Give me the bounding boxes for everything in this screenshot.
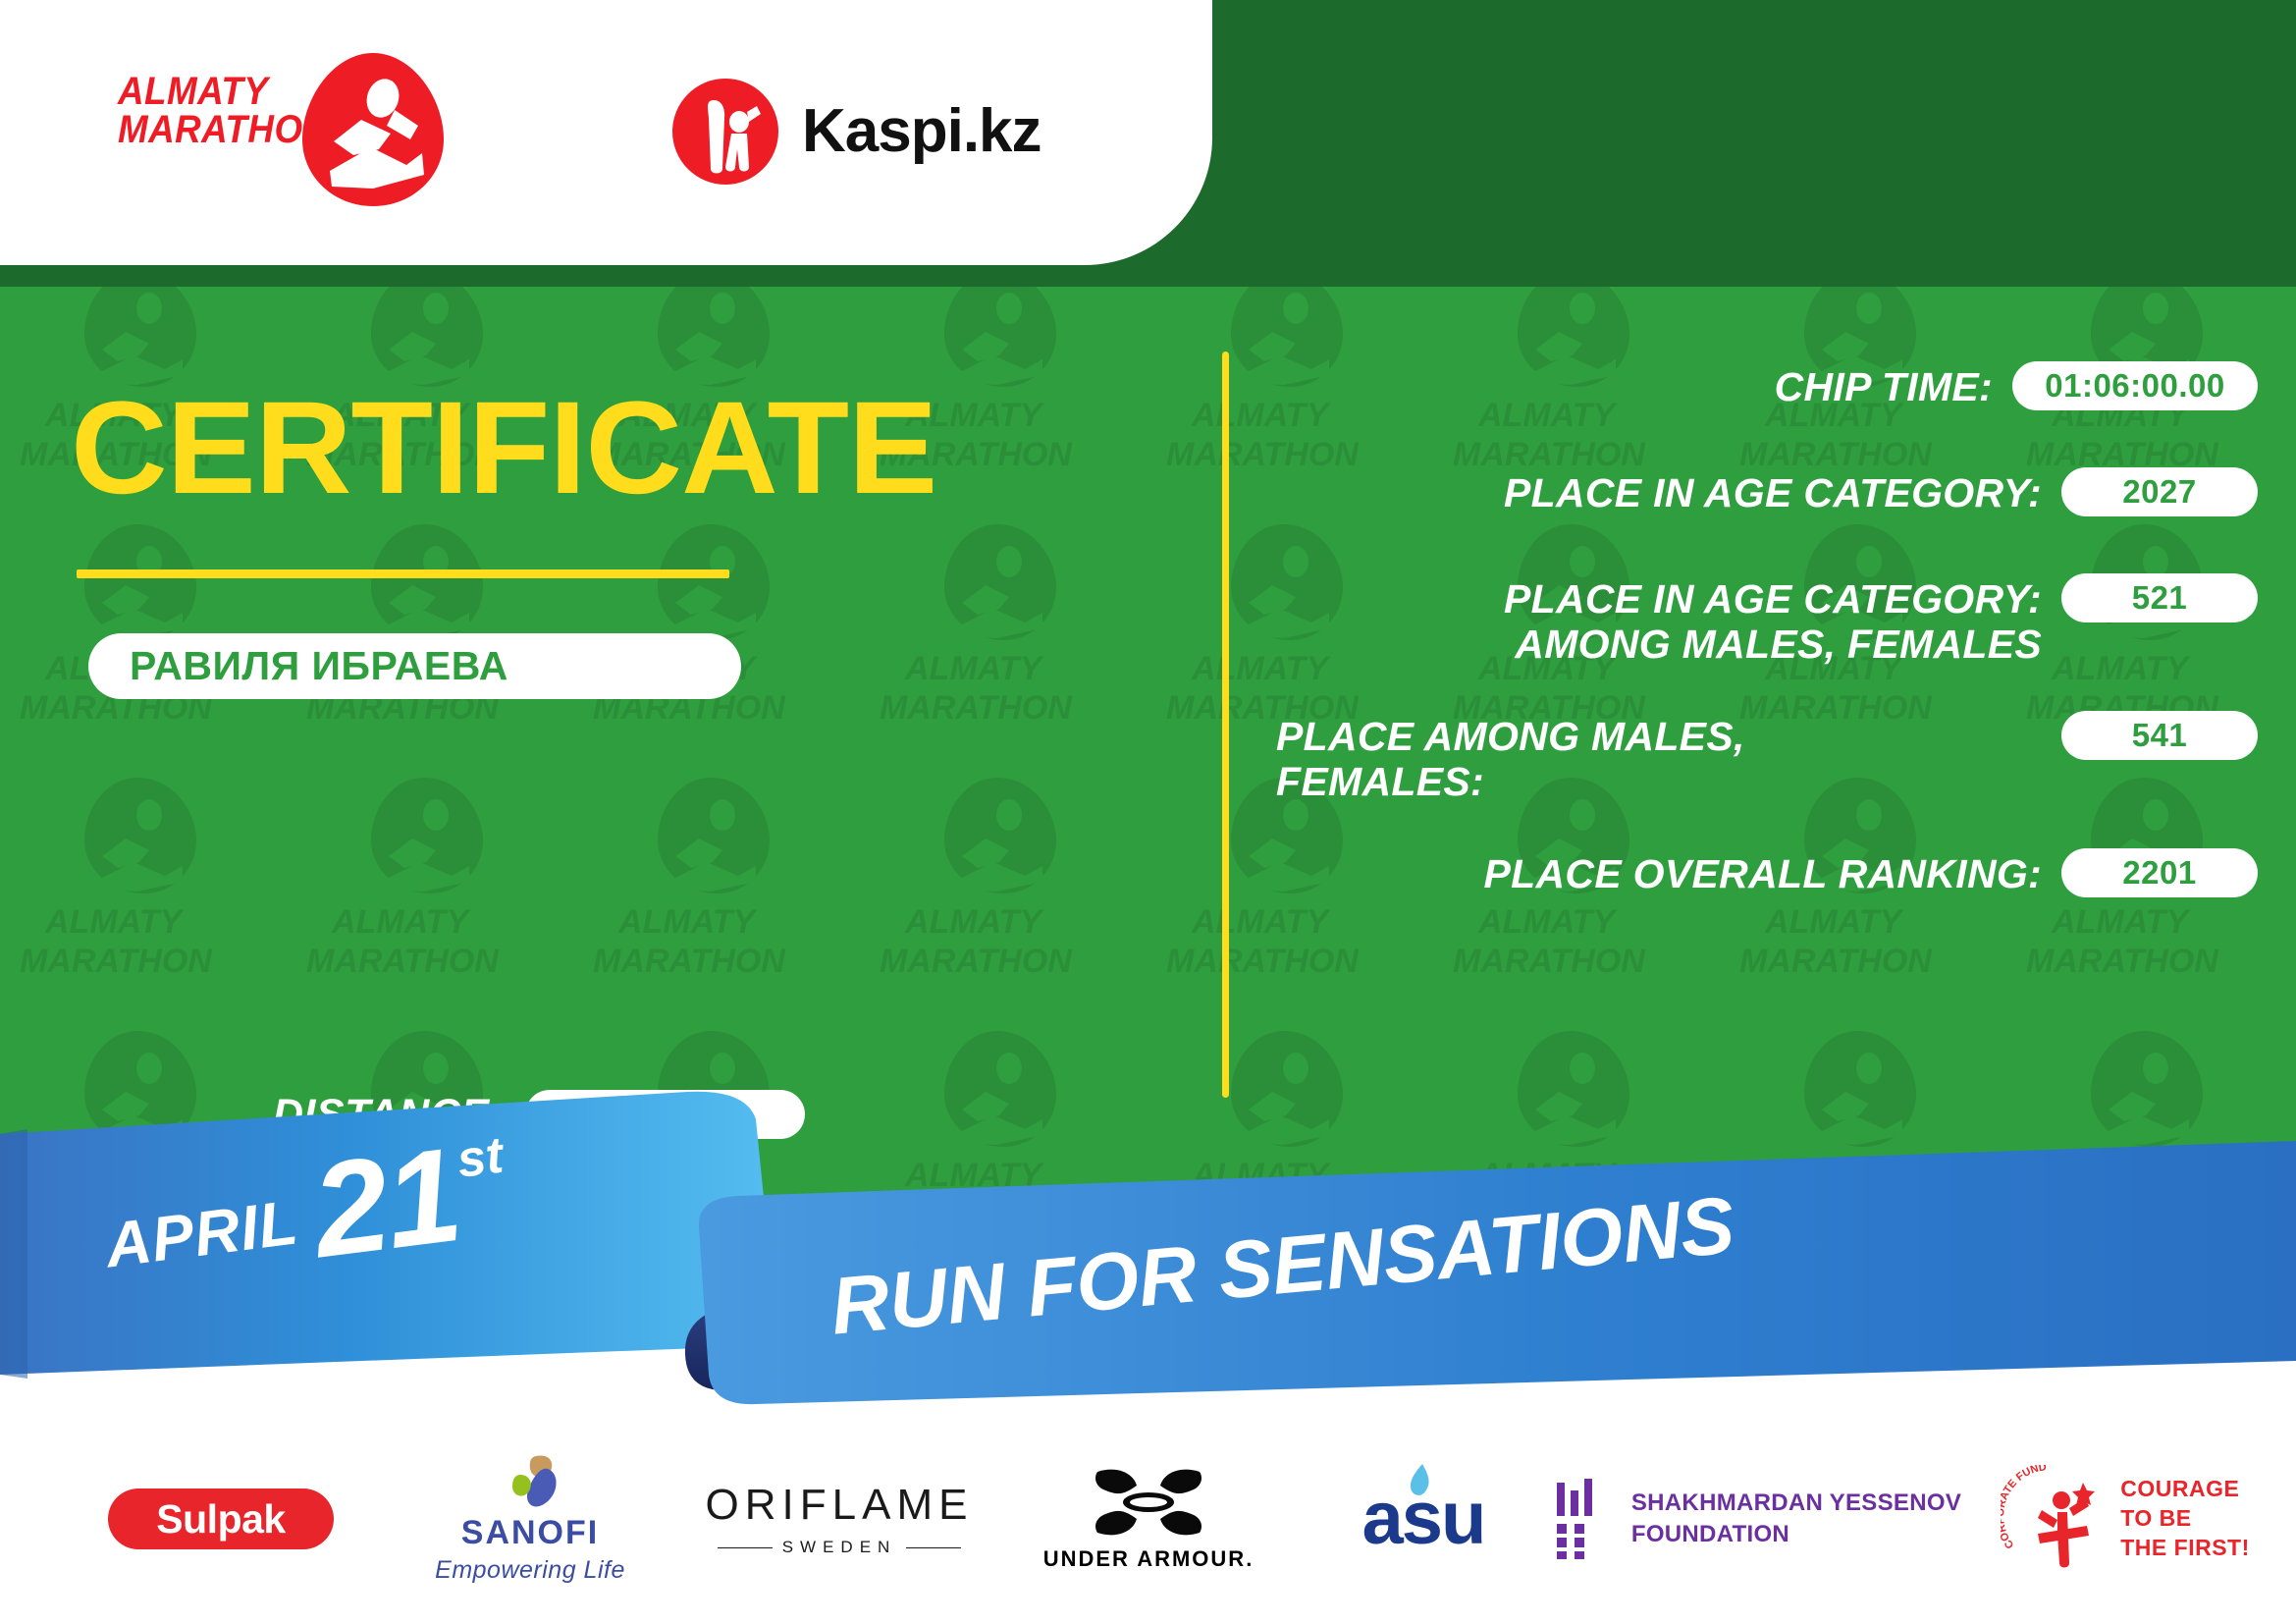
sulpak-logo-text: Sulpak xyxy=(156,1496,285,1543)
kaspi-logo: Kaspi.kz xyxy=(670,77,1041,187)
stat-row: PLACE OVERALL RANKING: 2201 xyxy=(1276,848,2258,911)
sanofi-logo xyxy=(491,1453,569,1514)
oriflame-rule-left xyxy=(718,1547,773,1548)
place-age-category-label: PLACE IN AGE CATEGORY: xyxy=(1276,467,2042,516)
sponsors-bar: Sulpak SANOFI Empowering Life ORIFLAME S… xyxy=(0,1414,2296,1624)
stat-row: PLACE IN AGE CATEGORY: 2027 xyxy=(1276,467,2258,530)
yessenov-foundation-text: SHAKHMARDAN YESSENOV FOUNDATION xyxy=(1631,1488,1961,1551)
place-age-category-gender-label: PLACE IN AGE CATEGORY: AMONG MALES, FEMA… xyxy=(1276,573,2042,668)
oriflame-logo-text: ORIFLAME xyxy=(706,1481,974,1530)
asu-droplet-icon xyxy=(1408,1462,1433,1501)
finish-time-value: 01:07:46.00 xyxy=(615,1206,795,1243)
finish-time-value-pill: 01:07:46.00 xyxy=(565,1200,845,1249)
oriflame-sub-text: SWEDEN xyxy=(782,1538,897,1557)
distance-value: 10 KM xyxy=(576,1096,674,1133)
asu-logo-text: asu xyxy=(1362,1482,1485,1556)
courage-text: COURAGE TO BE THE FIRST! xyxy=(2120,1475,2250,1563)
sanofi-logo-text: SANOFI xyxy=(461,1514,599,1552)
yessenov-line1: SHAKHMARDAN YESSENOV xyxy=(1631,1488,1961,1519)
sulpak-logo: Sulpak xyxy=(108,1489,334,1549)
courage-line1: COURAGE xyxy=(2120,1475,2250,1504)
yessenov-foundation-logo xyxy=(1553,1479,1612,1559)
sponsor-yessenov-foundation: SHAKHMARDAN YESSENOV FOUNDATION xyxy=(1551,1445,1963,1593)
stat-row: PLACE AMONG MALES, FEMALES: 541 xyxy=(1276,711,2258,805)
place-among-gender-value: 541 xyxy=(2132,717,2188,754)
place-among-gender-label-line2: FEMALES: xyxy=(1276,760,2042,805)
place-among-gender-value-pill: 541 xyxy=(2061,711,2258,760)
sponsor-oriflame: ORIFLAME SWEDEN xyxy=(677,1445,1001,1593)
courage-to-be-first-logo: CORPORATE FUND xyxy=(2001,1465,2109,1573)
under-armour-logo xyxy=(1090,1466,1207,1539)
kaspi-logo-text: Kaspi.kz xyxy=(802,101,1041,162)
under-armour-logo-text: UNDER ARMOUR. xyxy=(1043,1546,1255,1572)
almaty-logo-line1: ALMATY xyxy=(118,73,316,111)
sanofi-tagline: Empowering Life xyxy=(435,1556,625,1585)
sponsor-sulpak: Sulpak xyxy=(59,1445,383,1593)
sponsor-under-armour: UNDER ARMOUR. xyxy=(1001,1445,1296,1593)
chip-time-label: CHIP TIME: xyxy=(1276,361,1993,410)
distance-value-pill: 10 KM xyxy=(525,1090,805,1139)
oriflame-rule-right xyxy=(906,1547,961,1548)
courage-line3: THE FIRST! xyxy=(2120,1534,2250,1563)
participant-name-field: РАВИЛЯ ИБРАЕВА xyxy=(88,633,741,699)
courage-line2: TO BE xyxy=(2120,1504,2250,1534)
title-underline-rule xyxy=(77,569,729,578)
almaty-marathon-wordmark: ALMATY MARATHON xyxy=(118,73,316,149)
almaty-marathon-logo: ALMATY MARATHON xyxy=(118,51,442,213)
ribbon-date-day: 21 xyxy=(307,1137,465,1269)
ribbon-date-suffix: st xyxy=(454,1126,506,1190)
place-overall-ranking-value-pill: 2201 xyxy=(2061,848,2258,897)
stats-column: CHIP TIME: 01:06:00.00 PLACE IN AGE CATE… xyxy=(1276,361,2258,954)
oriflame-sub: SWEDEN xyxy=(718,1538,962,1557)
sponsor-asu: asu xyxy=(1296,1445,1551,1593)
certificate-root: ALMATY MARATHON ALMATY MARATHON xyxy=(0,0,2296,1624)
vertical-divider xyxy=(1222,352,1229,1098)
place-overall-ranking-label: PLACE OVERALL RANKING: xyxy=(1276,848,2042,897)
place-among-gender-label-line1: PLACE AMONG MALES, xyxy=(1276,715,2042,760)
place-age-category-gender-value-pill: 521 xyxy=(2061,573,2258,623)
chip-time-value-pill: 01:06:00.00 xyxy=(2012,361,2258,410)
place-age-category-value: 2027 xyxy=(2122,473,2196,511)
place-overall-ranking-value: 2201 xyxy=(2122,854,2196,892)
certificate-title: CERTIFICATE xyxy=(71,383,936,514)
almaty-logo-line2: MARATHON xyxy=(118,111,316,149)
participant-name-value: РАВИЛЯ ИБРАЕВА xyxy=(130,643,508,689)
kaspi-figure-icon xyxy=(670,77,780,187)
left-column: CERTIFICATE РАВИЛЯ ИБРАЕВА DISTANCE: 10 … xyxy=(0,285,1212,1281)
place-age-category-value-pill: 2027 xyxy=(2061,467,2258,516)
place-age-category-gender-value: 521 xyxy=(2132,579,2188,617)
sponsor-sanofi: SANOFI Empowering Life xyxy=(383,1445,677,1593)
place-among-gender-label: PLACE AMONG MALES, FEMALES: xyxy=(1276,711,2042,805)
sponsor-courage-to-be-first: CORPORATE FUND COURAGE TO BE THE FIRST! xyxy=(1963,1445,2287,1593)
place-age-category-gender-label-line1: PLACE IN AGE CATEGORY: xyxy=(1276,577,2042,623)
stat-row: CHIP TIME: 01:06:00.00 xyxy=(1276,361,2258,424)
place-age-category-gender-label-line2: AMONG MALES, FEMALES xyxy=(1276,623,2042,668)
stat-row: PLACE IN AGE CATEGORY: AMONG MALES, FEMA… xyxy=(1276,573,2258,668)
yessenov-line2: FOUNDATION xyxy=(1631,1519,1961,1550)
chip-time-value: 01:06:00.00 xyxy=(2045,367,2224,405)
ribbon-date-month: APRIL xyxy=(101,1185,302,1281)
